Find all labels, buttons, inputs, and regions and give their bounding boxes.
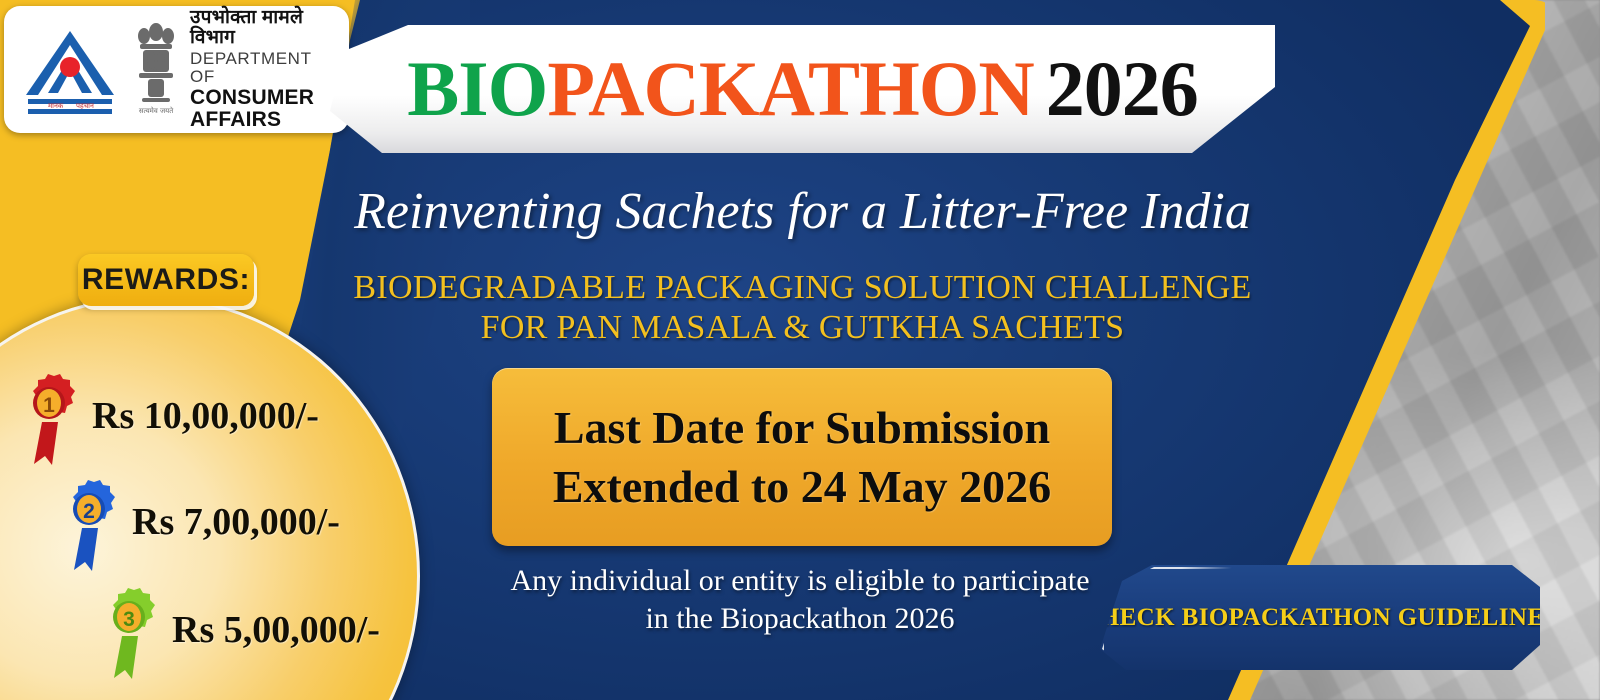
deadline-line-1: Last Date for Submission	[554, 401, 1050, 454]
reward-item-second: 2 Rs 7,00,000/-	[58, 472, 340, 572]
rewards-heading-badge: REWARDS:	[78, 254, 254, 306]
eligibility-line-1: Any individual or entity is eligible to …	[510, 564, 1089, 597]
department-name-hindi: उपभोक्ता मामले विभाग	[190, 8, 339, 48]
eligibility-line-2: in the Biopackathon 2026	[470, 600, 1130, 638]
reward-amount-second: Rs 7,00,000/-	[132, 500, 340, 544]
department-of-label: DEPARTMENT OF	[190, 50, 339, 86]
svg-text:2: 2	[83, 500, 95, 523]
title-part-year: 2026	[1046, 45, 1198, 132]
svg-text:सत्यमेव जयते: सत्यमेव जयते	[139, 106, 174, 115]
ashoka-emblem-icon: सत्यमेव जयते	[130, 20, 182, 120]
deadline-line-2: Extended to 24 May 2026	[553, 460, 1051, 513]
check-guidelines-label: CHECK BIOPACKATHON GUIDELINES	[1081, 604, 1558, 632]
third-place-rosette-icon: 3	[98, 580, 160, 680]
event-title: BIOPACKATHON2026	[407, 50, 1197, 128]
check-guidelines-button[interactable]: CHECK BIOPACKATHON GUIDELINES	[1100, 565, 1540, 670]
reward-item-first: 1 Rs 10,00,000/-	[18, 366, 319, 466]
reward-item-third: 3 Rs 5,00,000/-	[98, 580, 380, 680]
svg-text:1: 1	[43, 394, 55, 417]
title-part-packathon: PACKATHON	[547, 45, 1033, 132]
second-place-rosette-icon: 2	[58, 472, 120, 572]
eligibility-note: Any individual or entity is eligible to …	[470, 562, 1130, 639]
reward-amount-third: Rs 5,00,000/-	[172, 608, 380, 652]
bis-triangle-logo: मानक पहचान	[18, 23, 122, 117]
consumer-affairs-label: CONSUMER AFFAIRS	[190, 87, 339, 132]
svg-text:मानक: मानक	[48, 102, 64, 110]
submission-deadline-box: Last Date for Submission Extended to 24 …	[492, 368, 1112, 546]
title-banner: BIOPACKATHON2026	[330, 25, 1275, 153]
svg-text:पहचान: पहचान	[76, 102, 94, 110]
first-place-rosette-icon: 1	[18, 366, 80, 466]
title-part-bio: BIO	[407, 45, 547, 132]
event-subtitle: BIODEGRADABLE PACKAGING SOLUTION CHALLEN…	[330, 268, 1275, 348]
svg-text:3: 3	[123, 608, 135, 631]
rewards-heading-label: REWARDS:	[82, 263, 250, 297]
event-tagline: Reinventing Sachets for a Litter-Free In…	[330, 182, 1275, 241]
department-text-block: उपभोक्ता मामले विभाग DEPARTMENT OF CONSU…	[190, 8, 339, 132]
subtitle-line-1: BIODEGRADABLE PACKAGING SOLUTION CHALLEN…	[353, 269, 1251, 306]
department-logo-card: मानक पहचान सत्यमेव जयते उपभोक्ता मामले व…	[4, 6, 349, 133]
reward-amount-first: Rs 10,00,000/-	[92, 394, 319, 438]
subtitle-line-2: FOR PAN MASALA & GUTKHA SACHETS	[330, 308, 1275, 348]
